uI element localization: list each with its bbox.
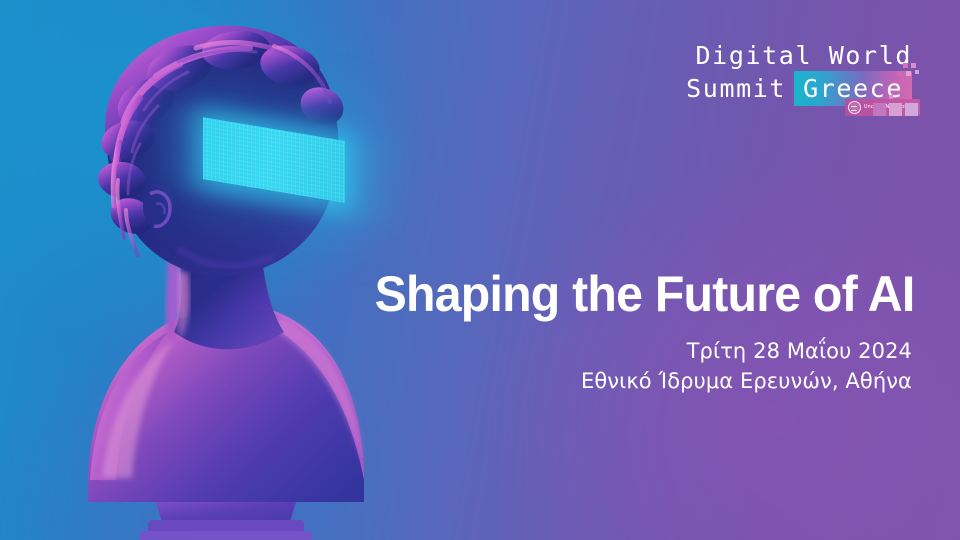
pixel-square-1: [873, 103, 886, 116]
event-logo[interactable]: Digital World Summit Greece: [686, 40, 912, 106]
pixel-dot-4: [906, 71, 911, 76]
pixel-dot-3: [897, 71, 902, 76]
pixel-dot-2: [911, 63, 916, 68]
page-title: Shaping the Future of AI: [374, 266, 914, 322]
pixel-dot-6: [889, 95, 893, 99]
pixel-square-2: [889, 103, 902, 116]
event-venue: Εθνικό Ίδρυμα Ερευνών, Αθήνα: [581, 368, 912, 395]
logo-line-1: Digital World: [686, 40, 912, 71]
pixel-square-3: [905, 103, 918, 116]
pixel-dot-1: [903, 63, 908, 68]
pixel-dot-5: [915, 70, 919, 74]
event-date: Τρίτη 28 Μαΐου 2024: [687, 338, 912, 365]
classical-bust-artwork: [28, 10, 388, 540]
un-emblem-icon: [848, 101, 861, 114]
presentation-slide: Digital World Summit Greece Under UN Aus…: [0, 0, 960, 540]
logo-summit-text: Summit: [686, 73, 786, 104]
